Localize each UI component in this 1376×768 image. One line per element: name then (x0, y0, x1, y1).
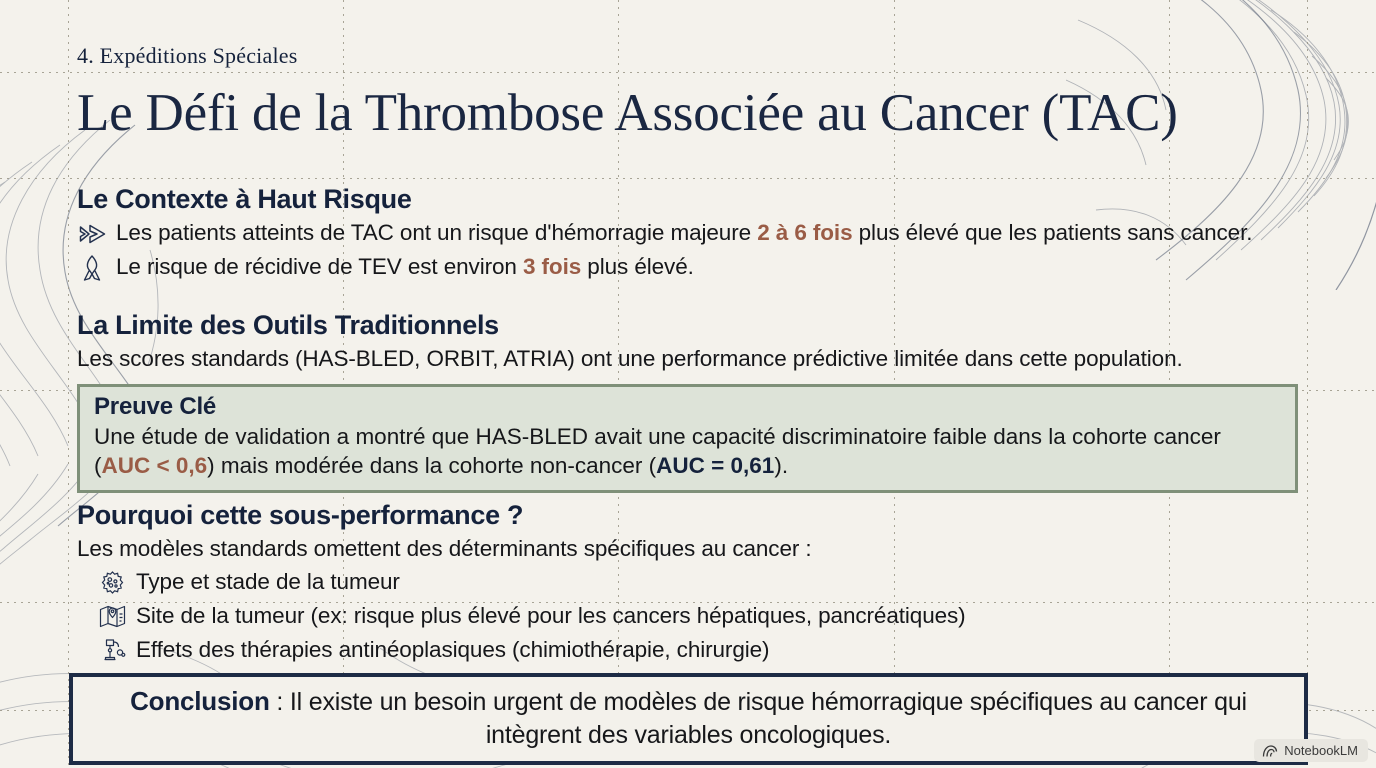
conclusion-text: Conclusion : Il existe un besoin urgent … (91, 685, 1286, 751)
double-arrow-icon (77, 219, 107, 249)
microscope-icon (97, 636, 127, 666)
section-paragraph: Les modèles standards omettent des déter… (77, 535, 966, 564)
slide-canvas: 4. Expéditions Spéciales Le Défi de la T… (0, 0, 1376, 768)
paren-close: ). (774, 453, 788, 478)
list-item: Site de la tumeur (ex: risque plus élevé… (97, 602, 966, 632)
list-item-text: Site de la tumeur (ex: risque plus élevé… (136, 602, 966, 631)
risk-bullet-list: Les patients atteints de TAC ont un risq… (77, 219, 1252, 283)
list-item: Le risque de récidive de TEV est environ… (77, 253, 1252, 283)
section-paragraph: Les scores standards (HAS-BLED, ORBIT, A… (77, 345, 1183, 374)
key-evidence-line-1: Une étude de validation a montré que HAS… (94, 422, 1281, 451)
key-evidence-box: Preuve Clé Une étude de validation a mon… (77, 384, 1298, 493)
key-evidence-line-2: (AUC < 0,6) mais modérée dans la cohorte… (94, 451, 1281, 480)
bullet-highlight: 3 fois (523, 254, 581, 279)
why-bullet-list: Type et stade de la tumeur Site de (97, 568, 966, 666)
conclusion-label: Conclusion (130, 686, 270, 716)
bullet-highlight: 2 à 6 fois (757, 220, 852, 245)
bullet-text-before: Le risque de récidive de TEV est environ (116, 254, 523, 279)
key-evidence-title: Preuve Clé (94, 393, 1281, 421)
conclusion-body: Il existe un besoin urgent de modèles de… (290, 688, 1247, 749)
section-tool-limits: La Limite des Outils Traditionnels Les s… (77, 310, 1183, 374)
conclusion-box: Conclusion : Il existe un besoin urgent … (69, 673, 1308, 765)
bullet-text-after: plus élevé que les patients sans cancer. (852, 220, 1252, 245)
map-icon (97, 602, 127, 632)
bullet-text-after: plus élevé. (581, 254, 694, 279)
paren-open: ( (94, 453, 102, 478)
section-heading: Le Contexte à Haut Risque (77, 184, 1252, 215)
section-heading: La Limite des Outils Traditionnels (77, 310, 1183, 341)
list-item: Effets des thérapies antinéoplasiques (c… (97, 636, 966, 666)
list-item: Les patients atteints de TAC ont un risq… (77, 219, 1252, 249)
ribbon-icon (77, 253, 107, 283)
list-item-text: Effets des thérapies antinéoplasiques (c… (136, 636, 769, 665)
slide-content: 4. Expéditions Spéciales Le Défi de la T… (0, 0, 1376, 768)
page-title: Le Défi de la Thrombose Associée au Canc… (77, 84, 1178, 142)
list-item: Type et stade de la tumeur (97, 568, 966, 598)
list-item-text: Type et stade de la tumeur (136, 568, 400, 597)
section-high-risk-context: Le Contexte à Haut Risque Les patients a… (77, 184, 1252, 283)
microbe-icon (97, 568, 127, 598)
bullet-text-before: Les patients atteints de TAC ont un risq… (116, 220, 757, 245)
section-why-underperformance: Pourquoi cette sous-performance ? Les mo… (77, 500, 966, 666)
conclusion-separator: : (270, 688, 290, 716)
list-item-text: Les patients atteints de TAC ont un risq… (116, 219, 1252, 248)
watermark-label: NotebookLM (1284, 743, 1358, 758)
notebooklm-watermark: NotebookLM (1254, 739, 1368, 762)
section-eyebrow: 4. Expéditions Spéciales (77, 43, 297, 69)
auc-cancer-value: AUC < 0,6 (102, 453, 208, 478)
line2-middle: ) mais modérée dans la cohorte non-cance… (207, 453, 656, 478)
notebooklm-icon (1262, 744, 1278, 758)
section-heading: Pourquoi cette sous-performance ? (77, 500, 966, 531)
auc-noncancer-value: AUC = 0,61 (656, 453, 774, 478)
list-item-text: Le risque de récidive de TEV est environ… (116, 253, 694, 282)
